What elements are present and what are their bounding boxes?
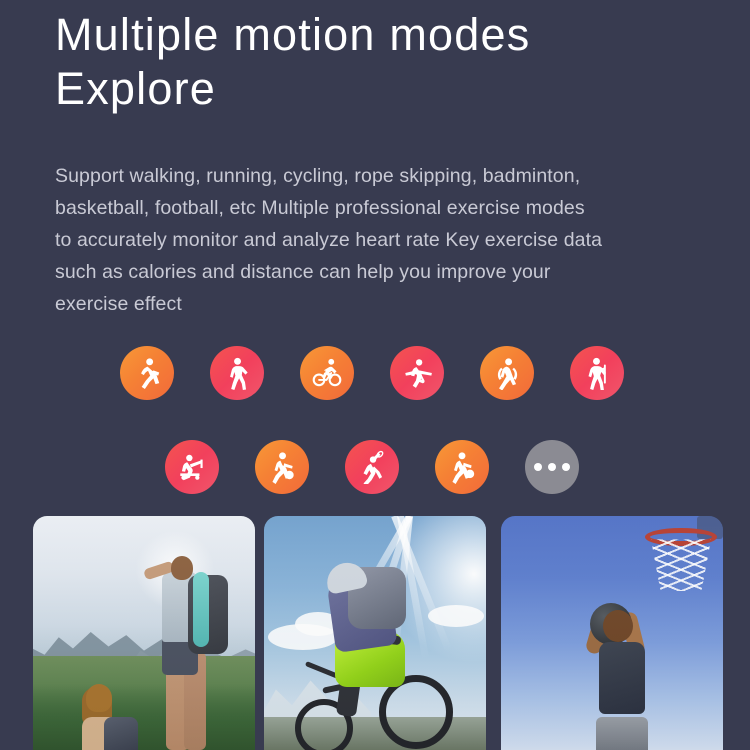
more-dots-icon <box>534 463 570 471</box>
photo-card-cycling[interactable] <box>264 516 486 750</box>
sport-mode-basketball[interactable] <box>435 440 489 494</box>
photo-card-hiking[interactable] <box>33 516 255 750</box>
sport-mode-walking[interactable] <box>210 346 264 400</box>
photo-hiking <box>33 516 255 750</box>
rowing-machine-icon <box>175 450 209 484</box>
hiking-icon <box>580 356 614 390</box>
sport-mode-yoga[interactable] <box>390 346 444 400</box>
football-icon <box>265 450 299 484</box>
sport-mode-hiking[interactable] <box>570 346 624 400</box>
page-title: Multiple motion modes Explore <box>55 8 715 116</box>
description-text: Support walking, running, cycling, rope … <box>55 160 725 320</box>
sport-mode-more[interactable] <box>525 440 579 494</box>
sport-mode-cycling[interactable] <box>300 346 354 400</box>
photo-cycling <box>264 516 486 750</box>
sport-mode-row-2 <box>165 440 579 494</box>
walking-icon <box>220 356 254 390</box>
sport-mode-football[interactable] <box>255 440 309 494</box>
badminton-icon <box>355 450 389 484</box>
sport-mode-running[interactable] <box>120 346 174 400</box>
rope-skipping-icon <box>490 356 524 390</box>
running-icon <box>130 356 164 390</box>
cycling-icon <box>310 356 344 390</box>
sport-mode-rowing-machine[interactable] <box>165 440 219 494</box>
yoga-icon <box>400 356 434 390</box>
sport-mode-row-1 <box>120 346 624 400</box>
sport-mode-badminton[interactable] <box>345 440 399 494</box>
sport-mode-rope-skipping[interactable] <box>480 346 534 400</box>
photo-card-basketball[interactable] <box>501 516 723 750</box>
photo-strip <box>0 516 750 750</box>
promo-page: Multiple motion modes Explore Support wa… <box>0 0 750 750</box>
basketball-icon <box>445 450 479 484</box>
photo-basketball <box>501 516 723 750</box>
